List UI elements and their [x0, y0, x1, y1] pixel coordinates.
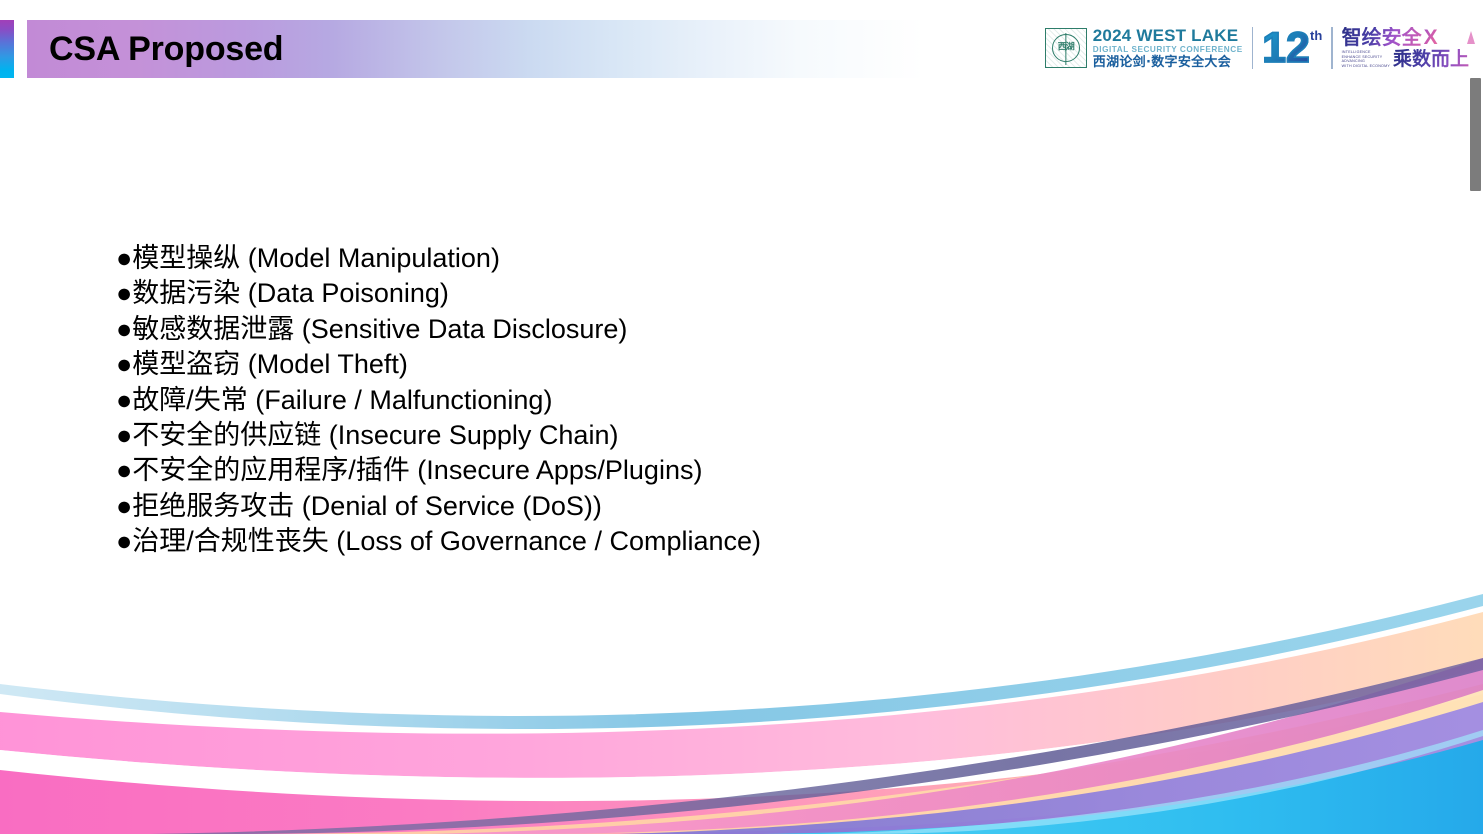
- list-item: ●数据污染 (Data Poisoning): [116, 276, 1216, 311]
- west-lake-logo: 西湖 2024 WEST LAKE DIGITAL SECURITY CONFE…: [1045, 27, 1243, 70]
- edition-suffix: th: [1310, 29, 1322, 42]
- west-lake-subtitle: DIGITAL SECURITY CONFERENCE: [1093, 45, 1243, 55]
- west-lake-title: 2024 WEST LAKE: [1093, 27, 1243, 45]
- list-item: ●敏感数据泄露 (Sensitive Data Disclosure): [116, 312, 1216, 347]
- list-item: ●治理/合规性丧失 (Loss of Governance / Complian…: [116, 524, 1216, 559]
- slogan-x-mark-icon: X: [1424, 27, 1438, 48]
- left-accent-bar: [0, 20, 14, 78]
- list-item: ●不安全的应用程序/插件 (Insecure Apps/Plugins): [116, 453, 1216, 488]
- list-item: ●拒绝服务攻击 (Denial of Service (DoS)): [116, 489, 1216, 524]
- decorative-wave-graphic: [0, 534, 1483, 834]
- west-lake-seal-icon: 西湖: [1045, 28, 1087, 68]
- list-item: ●模型操纵 (Model Manipulation): [116, 241, 1216, 276]
- slide-canvas: CSA Proposed 西湖 2024 WEST LAKE DIGITAL S…: [0, 0, 1483, 834]
- slogan-logo: 智绘安全 X INTELLIGENCE ENHANCE SECURITY ADV…: [1342, 27, 1473, 69]
- conference-logo-lockup: 西湖 2024 WEST LAKE DIGITAL SECURITY CONFE…: [1045, 22, 1473, 74]
- edition-number: 12: [1262, 27, 1310, 70]
- logo-divider-2: [1331, 27, 1332, 69]
- slogan-line1: 智绘安全: [1342, 27, 1422, 48]
- scrollbar-thumb[interactable]: [1470, 78, 1481, 191]
- slogan-en-line-4: WITH DIGITAL ECONOMY: [1342, 64, 1390, 68]
- slogan-row-2: INTELLIGENCE ENHANCE SECURITY ADVANCING …: [1342, 49, 1469, 69]
- page-title: CSA Proposed: [49, 27, 283, 71]
- slogan-row-1: 智绘安全 X: [1342, 27, 1469, 48]
- vertical-scrollbar[interactable]: [1466, 0, 1483, 834]
- west-lake-wordmark: 2024 WEST LAKE DIGITAL SECURITY CONFEREN…: [1093, 27, 1243, 70]
- seal-text: 西湖: [1046, 44, 1086, 53]
- slogan-english-lines: INTELLIGENCE ENHANCE SECURITY ADVANCING …: [1342, 50, 1390, 69]
- list-item: ●故障/失常 (Failure / Malfunctioning): [116, 383, 1216, 418]
- edition-badge: 12 th: [1262, 27, 1322, 70]
- risk-bullet-list: ●模型操纵 (Model Manipulation) ●数据污染 (Data P…: [116, 241, 1216, 560]
- west-lake-chinese-title: 西湖论剑·数字安全大会: [1093, 55, 1243, 70]
- slogan-line2: 乘数而上: [1393, 49, 1469, 69]
- logo-divider-1: [1252, 27, 1253, 69]
- list-item: ●不安全的供应链 (Insecure Supply Chain): [116, 418, 1216, 453]
- list-item: ●模型盗窃 (Model Theft): [116, 347, 1216, 382]
